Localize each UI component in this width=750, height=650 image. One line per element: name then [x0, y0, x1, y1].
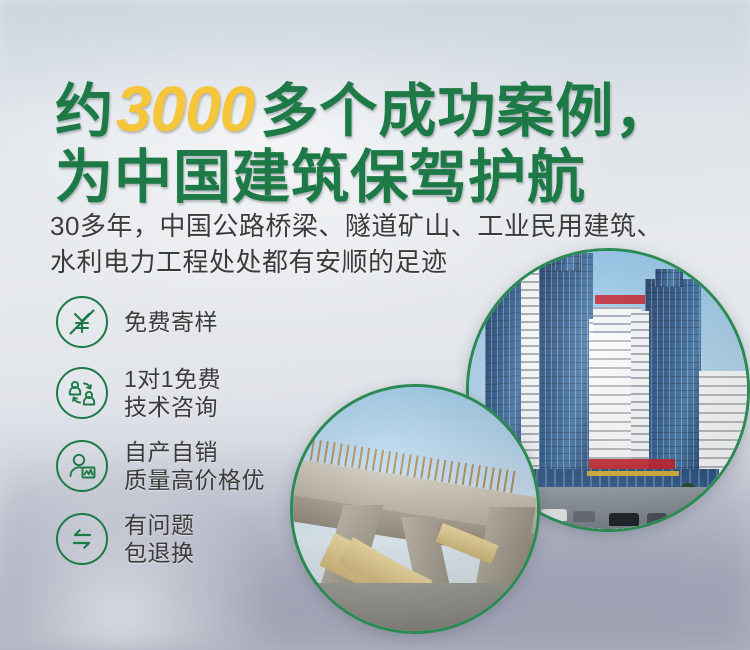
feature-label: 有问题 包退换: [124, 511, 195, 567]
exchange-arrows-icon: [56, 513, 108, 565]
bridge-photo-vignette: [293, 387, 537, 631]
feature-list: 免费寄样 1对1免: [56, 296, 265, 584]
feature-label: 1对1免费 技术咨询: [124, 365, 221, 421]
feature-line-1: 自产自销: [124, 438, 265, 466]
feature-line-1: 免费寄样: [124, 309, 218, 335]
headline: 约3000多个成功案例， 为中国建筑保驾护航: [55, 78, 715, 209]
feature-item-self-production[interactable]: 自产自销 质量高价格优: [56, 438, 265, 494]
feature-line-1: 1对1免费: [124, 365, 221, 393]
headline-number: 3000: [114, 73, 260, 145]
headline-prefix: 约: [55, 79, 114, 144]
no-fee-yuan-icon: [56, 296, 108, 348]
feature-item-return-exchange[interactable]: 有问题 包退换: [56, 511, 265, 567]
feature-line-1: 有问题: [124, 511, 195, 539]
subtitle-line-2: 水利电力工程处处都有安顺的足迹: [50, 244, 730, 280]
two-people-consult-icon: [56, 367, 108, 419]
feature-line-2: 技术咨询: [124, 393, 221, 421]
feature-line-2: 包退换: [124, 539, 195, 567]
feature-item-consultation[interactable]: 1对1免费 技术咨询: [56, 365, 265, 421]
banner-canvas: 约3000多个成功案例， 为中国建筑保驾护航 30多年，中国公路桥梁、隧道矿山、…: [0, 0, 750, 650]
feature-label: 自产自销 质量高价格优: [124, 438, 265, 494]
headline-suffix: 多个成功案例，: [260, 79, 673, 144]
feature-line-2: 质量高价格优: [124, 466, 265, 494]
feature-label: 免费寄样: [124, 308, 218, 336]
headline-line-1: 约3000多个成功案例，: [55, 78, 715, 143]
headline-line-2: 为中国建筑保驾护航: [55, 147, 715, 209]
subtitle-line-1: 30多年，中国公路桥梁、隧道矿山、工业民用建筑、: [50, 208, 730, 244]
person-chart-icon: [56, 440, 108, 492]
bridge-photo: [290, 384, 540, 634]
subtitle: 30多年，中国公路桥梁、隧道矿山、工业民用建筑、 水利电力工程处处都有安顺的足迹: [50, 208, 730, 280]
feature-item-free-sample[interactable]: 免费寄样: [56, 296, 265, 348]
